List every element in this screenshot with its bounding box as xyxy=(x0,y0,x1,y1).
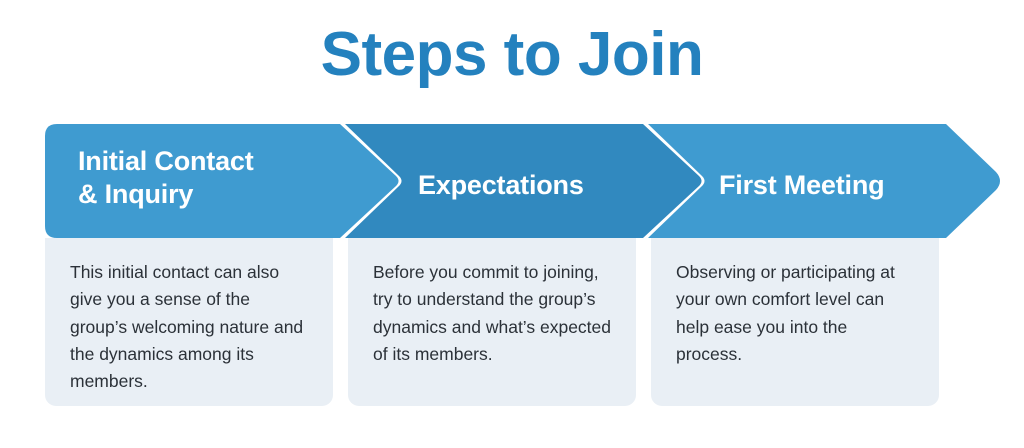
step-heading-1: Initial Contact & Inquiry xyxy=(78,145,254,211)
step-heading-3: First Meeting xyxy=(719,169,884,202)
step-body-text-1: This initial contact can also give you a… xyxy=(70,259,310,395)
step-body-panel-1: This initial contact can also give you a… xyxy=(45,238,333,406)
step-body-panel-2: Before you commit to joining, try to und… xyxy=(348,238,636,406)
page-title: Steps to Join xyxy=(0,22,1024,87)
steps-to-join-infographic: Steps to Join Initial Contact & Inquiry … xyxy=(0,0,1024,448)
step-body-panel-3: Observing or participating at your own c… xyxy=(651,238,939,406)
step-heading-2: Expectations xyxy=(418,169,584,202)
step-body-text-2: Before you commit to joining, try to und… xyxy=(373,259,613,368)
step-body-text-3: Observing or participating at your own c… xyxy=(676,259,916,368)
